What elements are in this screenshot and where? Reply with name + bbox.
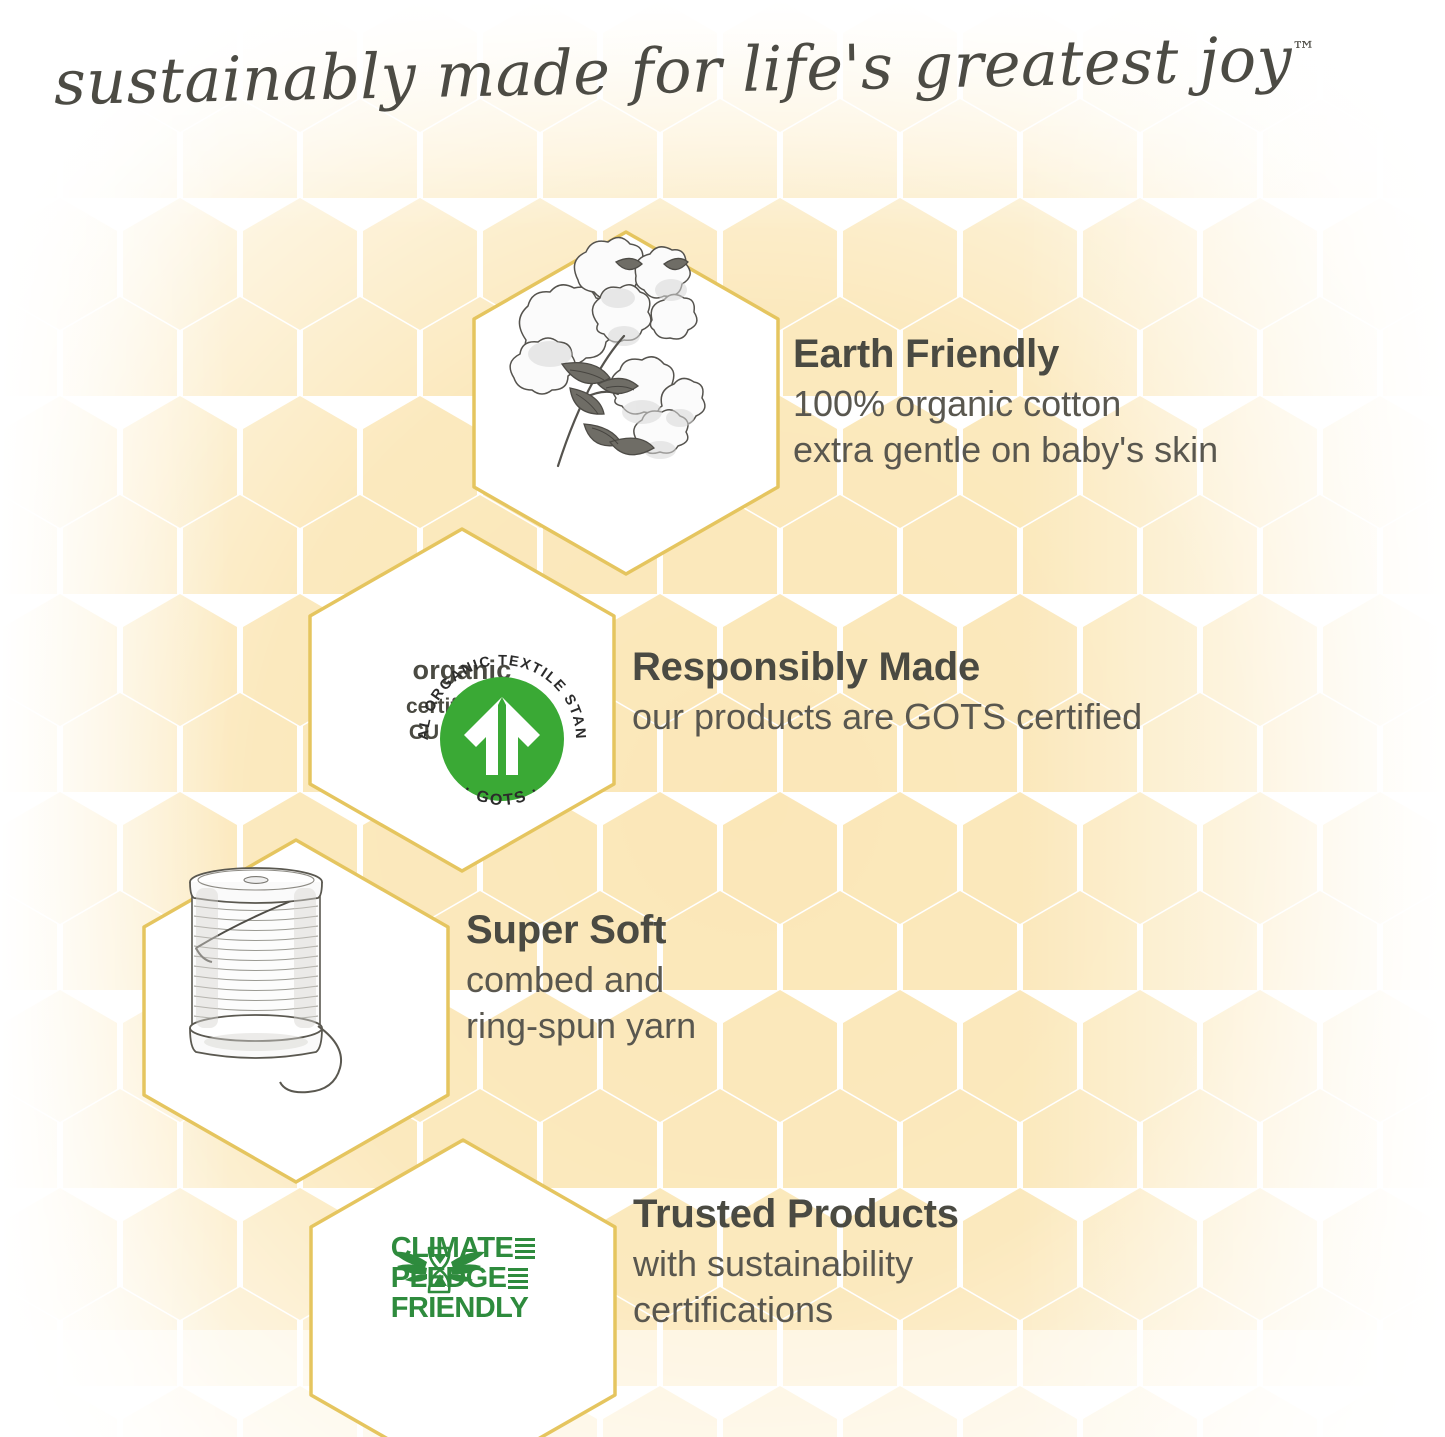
feature-line-2: extra gentle on baby's skin [793, 427, 1218, 473]
feature-text-super-soft: Super Soft combed and ring-spun yarn [466, 908, 696, 1049]
trademark-symbol: ™ [1292, 36, 1317, 64]
gots-organic-certification-icon: GLOBAL ORGANIC TEXTILE STANDARD · GOTS ·… [406, 643, 518, 745]
feature-line-1: combed and [466, 957, 696, 1003]
cpf-bars-icon [515, 1238, 535, 1260]
feature-hexagon-trusted-products: CLIMATE PLEDGE FRIENDLY [303, 1136, 623, 1437]
feature-hexagon-super-soft [136, 836, 456, 1186]
feature-text-earth-friendly: Earth Friendly 100% organic cotton extra… [793, 332, 1218, 473]
feature-line-1: with sustainability [633, 1241, 959, 1287]
winged-hourglass-icon [391, 1234, 487, 1306]
feature-heading: Super Soft [466, 908, 696, 953]
climate-pledge-friendly-icon: CLIMATE PLEDGE FRIENDLY [391, 1234, 536, 1323]
feature-line-2: certifications [633, 1287, 959, 1333]
cotton-branch-sketch-icon [466, 228, 716, 473]
feature-heading: Earth Friendly [793, 332, 1218, 377]
cpf-bars-icon-2 [508, 1268, 528, 1290]
feature-line-1: 100% organic cotton [793, 381, 1218, 427]
feature-line-1: our products are GOTS certified [632, 694, 1142, 740]
thread-spool-sketch-icon [136, 836, 376, 1086]
feature-line-2: ring-spun yarn [466, 1003, 696, 1049]
gots-seal-icon: GLOBAL ORGANIC TEXTILE STANDARD · GOTS · [406, 643, 598, 835]
feature-text-trusted-products: Trusted Products with sustainability cer… [633, 1192, 959, 1333]
feature-text-responsibly-made: Responsibly Made our products are GOTS c… [632, 645, 1142, 740]
feature-hexagon-responsibly-made: GLOBAL ORGANIC TEXTILE STANDARD · GOTS ·… [302, 525, 622, 875]
feature-heading: Responsibly Made [632, 645, 1142, 690]
infographic-root: sustainably made for life's greatest joy… [0, 0, 1445, 1437]
feature-heading: Trusted Products [633, 1192, 959, 1237]
